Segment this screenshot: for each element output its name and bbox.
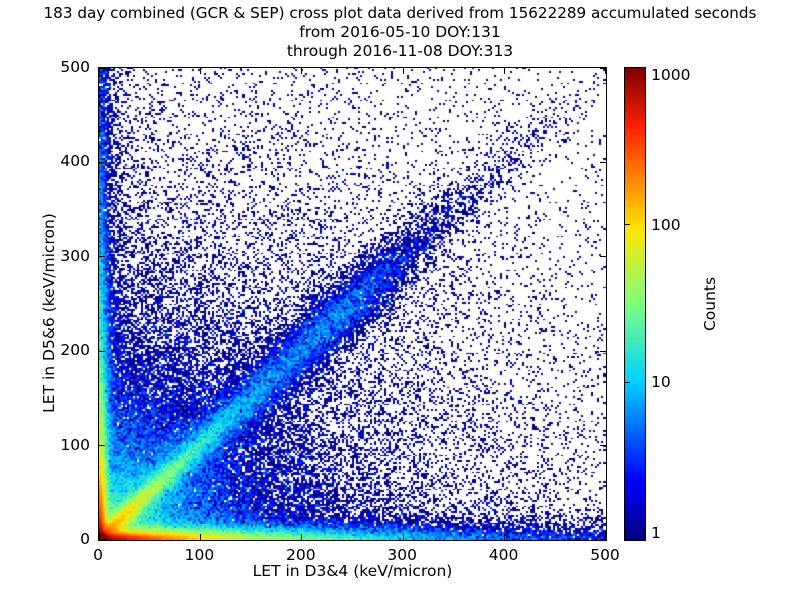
x-tick-300: [403, 68, 404, 74]
y-tick-300: [99, 256, 105, 257]
y-tick-label-500: 500: [32, 58, 90, 76]
title-line-3: through 2016-11-08 DOY:313: [0, 42, 800, 61]
x-tick-500: [605, 68, 606, 74]
colorbar-tick-10: [624, 382, 630, 383]
colorbar-label-holder: Counts: [700, 67, 720, 541]
y-tick-500: [600, 67, 606, 68]
x-tick-200: [301, 534, 302, 540]
y-tick-500: [99, 67, 105, 68]
x-tick-400: [504, 534, 505, 540]
y-tick-0: [99, 539, 105, 540]
colorbar-tick-label-1000: 1000: [651, 66, 690, 84]
plot-area[interactable]: [98, 67, 607, 541]
title-line-2: from 2016-05-10 DOY:131: [0, 23, 800, 42]
x-tick-0: [98, 68, 99, 74]
colorbar-tick-100: [624, 224, 630, 225]
colorbar-label: Counts: [701, 277, 719, 331]
density-heatmap: [99, 68, 606, 540]
x-tick-200: [301, 68, 302, 74]
colorbar-tick-label-100: 100: [651, 216, 681, 234]
chart-title: 183 day combined (GCR & SEP) cross plot …: [0, 4, 800, 61]
colorbar[interactable]: 1101001000: [624, 67, 646, 541]
y-tick-100: [99, 445, 105, 446]
title-line-1: 183 day combined (GCR & SEP) cross plot …: [0, 4, 800, 23]
colorbar-tick-label-10: 10: [651, 373, 671, 391]
figure-canvas: 183 day combined (GCR & SEP) cross plot …: [0, 0, 800, 600]
y-tick-300: [600, 256, 606, 257]
y-tick-400: [99, 162, 105, 163]
x-tick-100: [200, 534, 201, 540]
colorbar-gradient: [624, 67, 646, 541]
y-tick-400: [600, 162, 606, 163]
y-tick-0: [600, 539, 606, 540]
x-tick-300: [403, 534, 404, 540]
x-tick-100: [200, 68, 201, 74]
x-axis-label: LET in D3&4 (keV/micron): [98, 562, 607, 580]
y-axis-label: LET in D5&6 (keV/micron): [40, 76, 58, 550]
y-tick-100: [600, 445, 606, 446]
x-tick-400: [504, 68, 505, 74]
y-tick-200: [600, 351, 606, 352]
y-tick-200: [99, 351, 105, 352]
colorbar-tick-label-1: 1: [651, 524, 661, 542]
